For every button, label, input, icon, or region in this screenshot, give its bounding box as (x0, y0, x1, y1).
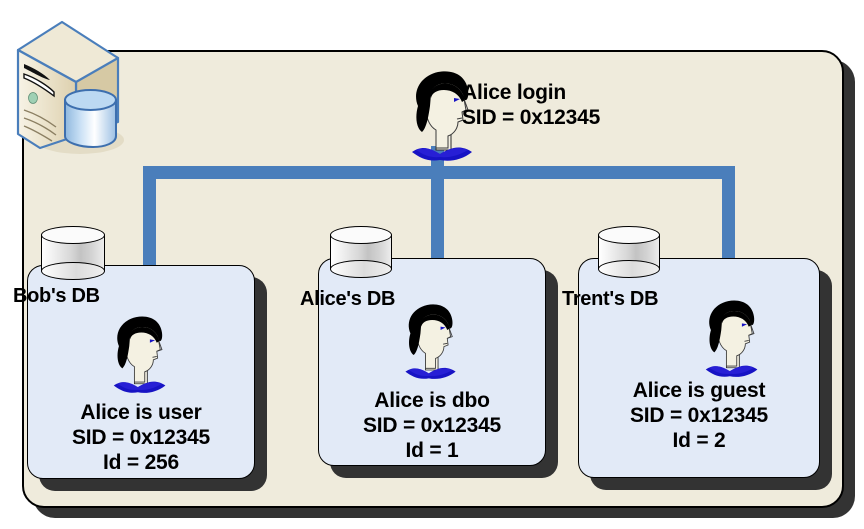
bobs-db-person-icon (100, 312, 174, 394)
alices-db-sid: SID = 0x12345 (318, 413, 546, 438)
alices-db-cylinder-icon (330, 226, 392, 278)
alices-db-role: Alice is dbo (318, 388, 546, 413)
trents-db-cylinder-icon (598, 226, 660, 278)
bobs-db-role: Alice is user (27, 400, 255, 425)
trents-db-id: Id = 2 (578, 428, 820, 453)
server-tower-icon (2, 14, 130, 164)
trents-db-person-icon (692, 296, 766, 378)
bobs-db-cylinder-icon (41, 226, 105, 280)
login-text-block: Alice login SID = 0x12345 (462, 80, 712, 130)
bobs-db-text-block: Alice is user SID = 0x12345 Id = 256 (27, 400, 255, 475)
trents-db-role: Alice is guest (578, 378, 820, 403)
bobs-db-id: Id = 256 (27, 450, 255, 475)
bobs-db-label: Bob's DB (13, 285, 100, 308)
alices-db-id: Id = 1 (318, 438, 546, 463)
alices-db-text-block: Alice is dbo SID = 0x12345 Id = 1 (318, 388, 546, 463)
connector-middle-stem (431, 166, 444, 273)
trents-db-label: Trent's DB (562, 288, 658, 311)
trents-db-text-block: Alice is guest SID = 0x12345 Id = 2 (578, 378, 820, 453)
trents-db-sid: SID = 0x12345 (578, 403, 820, 428)
alices-db-person-icon (392, 300, 464, 380)
alices-db-label: Alice's DB (300, 288, 395, 311)
server-database-cylinder (65, 90, 116, 147)
connector-right-stem (722, 166, 735, 272)
login-name: Alice login (462, 80, 712, 105)
bobs-db-sid: SID = 0x12345 (27, 425, 255, 450)
diagram-canvas: Alice login SID = 0x12345 Bob's DB Alice… (0, 0, 864, 529)
login-sid: SID = 0x12345 (462, 105, 712, 130)
